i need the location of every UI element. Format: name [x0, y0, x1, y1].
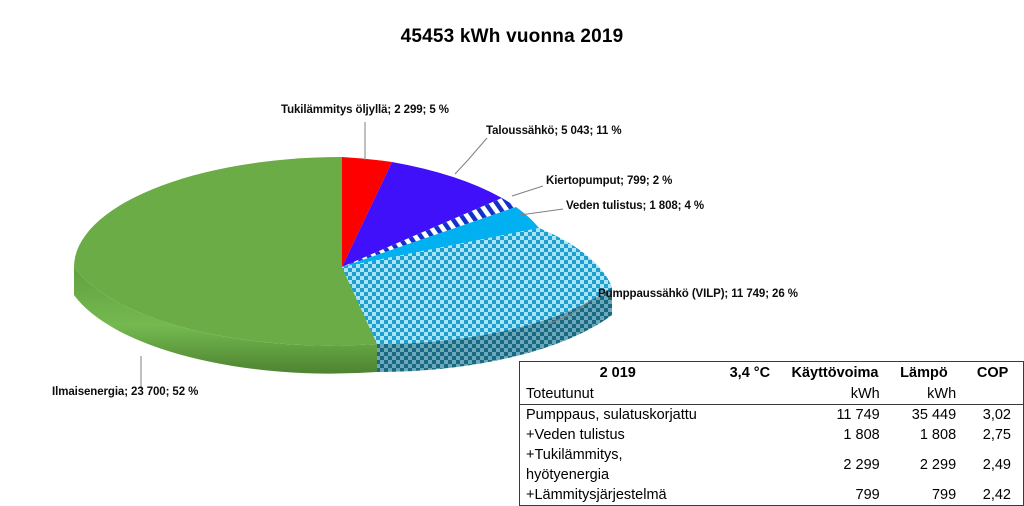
- header-lampo: Lämpö: [886, 362, 962, 385]
- row-spacer: [715, 485, 784, 506]
- table-subheader-row: Toteutunut kWh kWh: [520, 384, 1024, 405]
- row-label: +Veden tulistus: [520, 425, 716, 445]
- table-row: Pumppaus, sulatuskorjattu 11 749 35 449 …: [520, 405, 1024, 426]
- row-kayttovoima: 11 749: [784, 405, 885, 426]
- row-lampo: 799: [886, 485, 962, 506]
- pie-label-taloussahko: Taloussähkö; 5 043; 11 %: [486, 125, 621, 137]
- row-label: +Lämmitysjärjestelmä: [520, 485, 716, 506]
- row-label: Pumppaus, sulatuskorjattu: [520, 405, 716, 426]
- pie-label-ilmaisenergia: Ilmaisenergia; 23 700; 52 %: [52, 386, 198, 398]
- results-table: 2 019 3,4 °C Käyttövoima Lämpö COP Toteu…: [519, 361, 1024, 506]
- row-lampo: 35 449: [886, 405, 962, 426]
- subheader-kayttovoima-unit: kWh: [784, 384, 885, 405]
- table-header-row: 2 019 3,4 °C Käyttövoima Lämpö COP: [520, 362, 1024, 385]
- header-kayttovoima: Käyttövoima: [784, 362, 885, 385]
- table-row: +Tukilämmitys, hyötyenergia 2 299 2 299 …: [520, 445, 1024, 485]
- subheader-cop-unit: [962, 384, 1023, 405]
- row-spacer: [715, 405, 784, 426]
- row-lampo: 2 299: [886, 445, 962, 485]
- header-temperature: 3,4 °C: [715, 362, 784, 385]
- row-cop: 2,75: [962, 425, 1023, 445]
- row-cop: 3,02: [962, 405, 1023, 426]
- row-spacer: [715, 425, 784, 445]
- header-year: 2 019: [520, 362, 716, 385]
- row-kayttovoima: 1 808: [784, 425, 885, 445]
- row-spacer: [715, 445, 784, 485]
- subheader-lampo-unit: kWh: [886, 384, 962, 405]
- pie-label-pumppaussahko-vilp: Pumppaussähkö (VILP); 11 749; 26 %: [598, 288, 798, 300]
- row-cop: 2,42: [962, 485, 1023, 506]
- leader-line-veden-tulistus: [520, 209, 563, 215]
- row-kayttovoima: 2 299: [784, 445, 885, 485]
- row-kayttovoima: 799: [784, 485, 885, 506]
- pie-label-veden-tulistus: Veden tulistus; 1 808; 4 %: [566, 200, 704, 212]
- pie-label-kiertopumput: Kiertopumput; 799; 2 %: [546, 175, 672, 187]
- subheader-blank: [715, 384, 784, 405]
- header-cop: COP: [962, 362, 1023, 385]
- row-label: +Tukilämmitys, hyötyenergia: [520, 445, 716, 485]
- leader-line-taloussahko: [455, 138, 487, 174]
- pie-label-tukilammitys-oljylla: Tukilämmitys öljyllä; 2 299; 5 %: [281, 104, 449, 116]
- subheader-toteutunut: Toteutunut: [520, 384, 716, 405]
- table-row: +Lämmitysjärjestelmä 799 799 2,42: [520, 485, 1024, 506]
- leader-line-kiertopumput: [512, 186, 543, 196]
- row-cop: 2,49: [962, 445, 1023, 485]
- table-row: +Veden tulistus 1 808 1 808 2,75: [520, 425, 1024, 445]
- row-lampo: 1 808: [886, 425, 962, 445]
